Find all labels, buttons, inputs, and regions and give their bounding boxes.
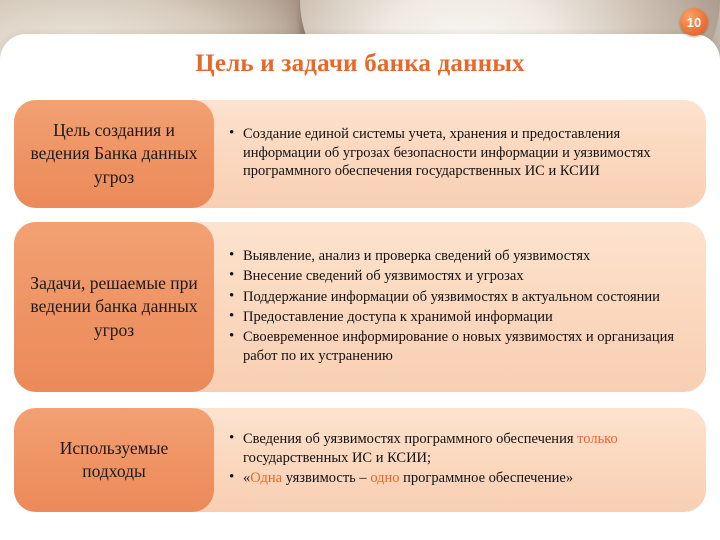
bullet-text: Выявление, анализ и проверка сведений об… <box>243 248 590 264</box>
bullet-item: Сведения об уязвимостях программного обе… <box>228 430 690 467</box>
bullet-text: программное обеспечение» <box>400 470 574 486</box>
bullet-text: Предоставление доступа к хранимой информ… <box>243 309 553 325</box>
content-rows: Цель создания и ведения Банка данных угр… <box>0 100 720 518</box>
bullet-text: Поддержание информации об уязвимостях в … <box>243 289 660 305</box>
table-row: Цель создания и ведения Банка данных угр… <box>0 100 720 222</box>
bullet-text: уязвимость – <box>282 470 370 486</box>
highlighted-text: только <box>577 431 618 447</box>
row-label-cell: Задачи, решаемые при ведении банка данны… <box>14 222 214 392</box>
row-label-cell: Используемые подходы <box>14 408 214 512</box>
highlighted-text: Одна <box>250 470 282 486</box>
bullet-item: Своевременное информирование о новых уяз… <box>228 328 690 365</box>
bullet-item: «Одна уязвимость – одно программное обес… <box>228 469 690 487</box>
row-content-cell: Выявление, анализ и проверка сведений об… <box>228 222 696 392</box>
bullet-item: Предоставление доступа к хранимой информ… <box>228 308 690 326</box>
bullet-list-3: Сведения об уязвимостях программного обе… <box>228 430 690 489</box>
bullet-item: Поддержание информации об уязвимостях в … <box>228 288 690 306</box>
row-label-text: Используемые подходы <box>28 437 200 483</box>
slide: 10 Цель и задачи банка данных Цель созда… <box>0 0 720 540</box>
row-label-text: Задачи, решаемые при ведении банка данны… <box>28 272 200 341</box>
highlighted-text: одно <box>370 470 399 486</box>
page-title: Цель и задачи банка данных <box>0 50 720 78</box>
bullet-list-1: Создание единой системы учета, хранения … <box>228 125 690 182</box>
table-row: Задачи, решаемые при ведении банка данны… <box>0 222 720 408</box>
row-label-cell: Цель создания и ведения Банка данных угр… <box>14 100 214 208</box>
bullet-item: Создание единой системы учета, хранения … <box>228 125 690 180</box>
bullet-text: Сведения об уязвимостях программного обе… <box>243 431 577 447</box>
bullet-text: Внесение сведений об уязвимостях и угроз… <box>243 268 524 284</box>
bullet-list-2: Выявление, анализ и проверка сведений об… <box>228 247 690 367</box>
row-content-cell: Сведения об уязвимостях программного обе… <box>228 408 696 512</box>
bullet-text: Своевременное информирование о новых уяз… <box>243 329 674 363</box>
row-content-cell: Создание единой системы учета, хранения … <box>228 100 696 208</box>
bullet-item: Внесение сведений об уязвимостях и угроз… <box>228 267 690 285</box>
table-row: Используемые подходы Сведения об уязвимо… <box>0 408 720 518</box>
bullet-text: Создание единой системы учета, хранения … <box>243 126 651 179</box>
bullet-text: государственных ИС и КСИИ; <box>243 450 431 466</box>
slide-number-badge: 10 <box>680 8 708 36</box>
row-label-text: Цель создания и ведения Банка данных угр… <box>28 119 200 188</box>
bullet-item: Выявление, анализ и проверка сведений об… <box>228 247 690 265</box>
